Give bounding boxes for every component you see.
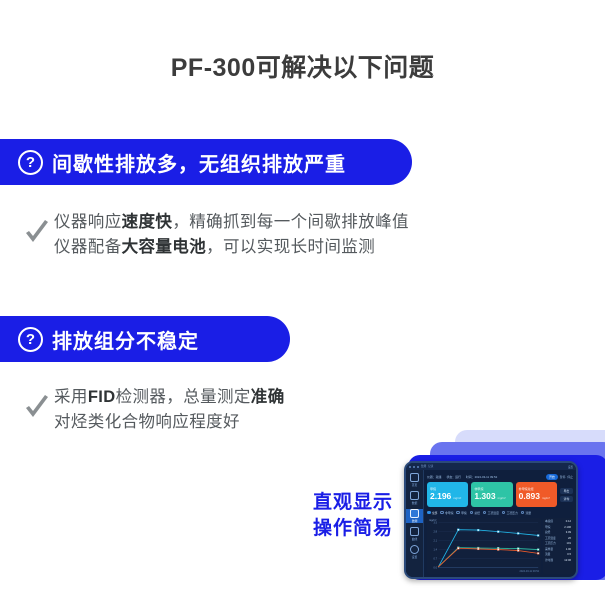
sidebar-item-curve-label: 曲线 <box>412 537 418 541</box>
solution-1-line-2: 仪器配备大容量电池，可以实现长时间监测 <box>54 235 409 260</box>
kpi-card-nonmethane-title: 非甲烷 <box>474 487 509 491</box>
svg-text:0.7: 0.7 <box>434 557 438 560</box>
radio-dot-icon <box>456 511 460 515</box>
kpi-side-buttons: 导出 清零 <box>560 482 573 507</box>
readout-row: 计时器12:06 <box>545 559 571 563</box>
readout-row: 工况温度26 <box>545 537 571 541</box>
line-chart: mg/m³ 0.00.71.42.12.83.5 2024-03-11 09:5… <box>427 518 541 574</box>
kpi-card-row: 甲烷 2.196mg/m³ 非甲烷 1.303mg/m³ 非甲烷总烃 0.893… <box>427 482 573 507</box>
device-graphic: 监测 记录 设置 首页 数据 监测 <box>0 0 605 605</box>
solution-block-1: 仪器响应速度快，精确抓到每一个间歇排放峰值 仪器配备大容量电池，可以实现长时间监… <box>24 210 409 260</box>
radio-dot-icon <box>470 511 474 515</box>
channel-radio-group: 全部 非甲烷 甲烷 总烃 工况温度 工况压力 流量 <box>427 510 573 516</box>
titlebar-label-right[interactable]: 设置 <box>568 465 573 469</box>
readout-row: 流量0.5 <box>545 553 571 557</box>
svg-text:3.5: 3.5 <box>434 522 438 525</box>
sidebar-item-monitor-label: 监测 <box>412 519 418 523</box>
svg-text:0.0: 0.0 <box>434 566 438 569</box>
radio-temp[interactable]: 工况温度 <box>483 511 499 515</box>
question-mark-icon: ? <box>18 150 43 175</box>
sidebar-item-monitor[interactable]: 监测 <box>406 509 423 523</box>
list-icon <box>410 491 419 500</box>
problem-banner-1: ? 间歇性排放多，无组织排放严重 <box>0 139 412 185</box>
export-button[interactable]: 导出 <box>560 488 573 494</box>
radio-all[interactable]: 全部 <box>427 511 437 515</box>
pause-button[interactable]: 暂停 <box>560 475 566 479</box>
radio-nonmethane[interactable]: 非甲烷 <box>440 511 453 515</box>
radio-dot-icon <box>427 511 431 515</box>
radio-dot-icon <box>502 511 506 515</box>
solution-2-line-1: 采用FID检测器，总量测定准确 <box>54 385 285 410</box>
readout-row: 工况压力101 <box>545 542 571 546</box>
kpi-card-methane-title: 甲烷 <box>430 487 465 491</box>
tablet-device: 监测 记录 设置 首页 数据 监测 <box>404 461 578 579</box>
tablet-sidebar: 首页 数据 监测 曲线 设置 <box>406 470 424 577</box>
reset-button[interactable]: 清零 <box>560 496 573 502</box>
problem-banner-2: ? 排放组分不稳定 <box>0 316 290 362</box>
page-title: PF-300可解决以下问题 <box>0 48 605 84</box>
start-button[interactable]: 开始 <box>546 474 558 480</box>
caption-block: 直观显示 操作简易 <box>313 490 393 542</box>
sidebar-item-data[interactable]: 数据 <box>406 491 423 505</box>
sidebar-item-home[interactable]: 首页 <box>406 473 423 487</box>
svg-text:1.4: 1.4 <box>434 548 438 551</box>
window-dot-1 <box>409 466 411 468</box>
radio-dot-icon <box>521 511 525 515</box>
radio-flow[interactable]: 流量 <box>521 511 531 515</box>
radio-dot-icon <box>483 511 487 515</box>
caption-line-2: 操作简易 <box>313 516 393 542</box>
toolbar-status-1: 仪器：就绪 <box>427 475 441 479</box>
kpi-card-nmhc: 非甲烷总烃 0.893mg/m³ <box>516 482 557 507</box>
chart-readout-panel: 本底值0.12 甲烷2.196 总烃3.09 工况温度26 工况压力101 采样… <box>543 518 573 574</box>
promo-page: PF-300可解决以下问题 ? 间歇性排放多，无组织排放严重 仪器响应速度快，精… <box>0 0 605 605</box>
window-dot-3 <box>417 466 419 468</box>
tablet-main-panel: 仪器：就绪 状态：运行 时间：2024-03-11 09:52 开始 暂停 停止… <box>424 470 576 577</box>
toolbar-actions: 开始 暂停 停止 <box>546 474 573 480</box>
question-mark-icon: ? <box>18 327 43 352</box>
problem-banner-2-text: 排放组分不稳定 <box>52 325 199 354</box>
svg-text:2.1: 2.1 <box>434 540 438 543</box>
kpi-card-methane-value: 2.196mg/m³ <box>430 491 465 503</box>
caption-line-1: 直观显示 <box>313 490 393 516</box>
radio-dot-icon <box>440 511 444 515</box>
sidebar-item-data-label: 数据 <box>412 501 418 505</box>
solution-2-line-2: 对烃类化合物响应程度好 <box>54 410 285 435</box>
toolbar-timestamp: 时间：2024-03-11 09:52 <box>466 475 497 479</box>
sidebar-item-settings-label: 设置 <box>412 555 418 559</box>
radio-pressure[interactable]: 工况压力 <box>502 511 518 515</box>
svg-text:2.8: 2.8 <box>434 531 438 534</box>
radio-thc[interactable]: 总烃 <box>470 511 480 515</box>
chart-x-note: 2024-03-11 09:52 <box>519 570 539 573</box>
readout-row: 采样量1.00 <box>545 548 571 552</box>
monitor-icon <box>410 509 419 518</box>
radio-methane[interactable]: 甲烷 <box>456 511 466 515</box>
toolbar-status-2: 状态：运行 <box>446 475 460 479</box>
problem-banner-1-text: 间歇性排放多，无组织排放严重 <box>52 148 346 177</box>
chart-area: mg/m³ 0.00.71.42.12.83.5 2024-03-11 09:5… <box>427 518 573 574</box>
sidebar-item-settings[interactable]: 设置 <box>406 545 423 559</box>
window-dot-2 <box>413 466 415 468</box>
solution-block-2: 采用FID检测器，总量测定准确 对烃类化合物响应程度好 <box>24 385 285 435</box>
tablet-toolbar: 仪器：就绪 状态：运行 时间：2024-03-11 09:52 开始 暂停 停止 <box>427 473 573 480</box>
check-icon <box>24 216 50 250</box>
sidebar-item-curve[interactable]: 曲线 <box>406 527 423 541</box>
kpi-card-nonmethane-value: 1.303mg/m³ <box>474 491 509 503</box>
chart-svg: 0.00.71.42.12.83.5 <box>427 518 541 574</box>
kpi-card-nonmethane: 非甲烷 1.303mg/m³ <box>471 482 512 507</box>
titlebar-label-2: 记录 <box>428 463 433 470</box>
kpi-card-nmhc-value: 0.893mg/m³ <box>519 491 554 503</box>
readout-row: 本底值0.12 <box>545 520 571 524</box>
tablet-titlebar: 监测 记录 设置 <box>406 463 576 470</box>
home-icon <box>410 473 419 482</box>
sidebar-item-home-label: 首页 <box>412 483 418 487</box>
chart-icon <box>410 527 419 536</box>
readout-row: 总烃3.09 <box>545 531 571 535</box>
solution-1-line-1: 仪器响应速度快，精确抓到每一个间歇排放峰值 <box>54 210 409 235</box>
titlebar-label-1: 监测 <box>421 463 426 470</box>
gear-icon <box>410 545 419 554</box>
readout-row: 甲烷2.196 <box>545 526 571 530</box>
stop-button[interactable]: 停止 <box>567 475 573 479</box>
kpi-card-methane: 甲烷 2.196mg/m³ <box>427 482 468 507</box>
kpi-card-nmhc-title: 非甲烷总烃 <box>519 487 554 491</box>
check-icon <box>24 391 50 425</box>
